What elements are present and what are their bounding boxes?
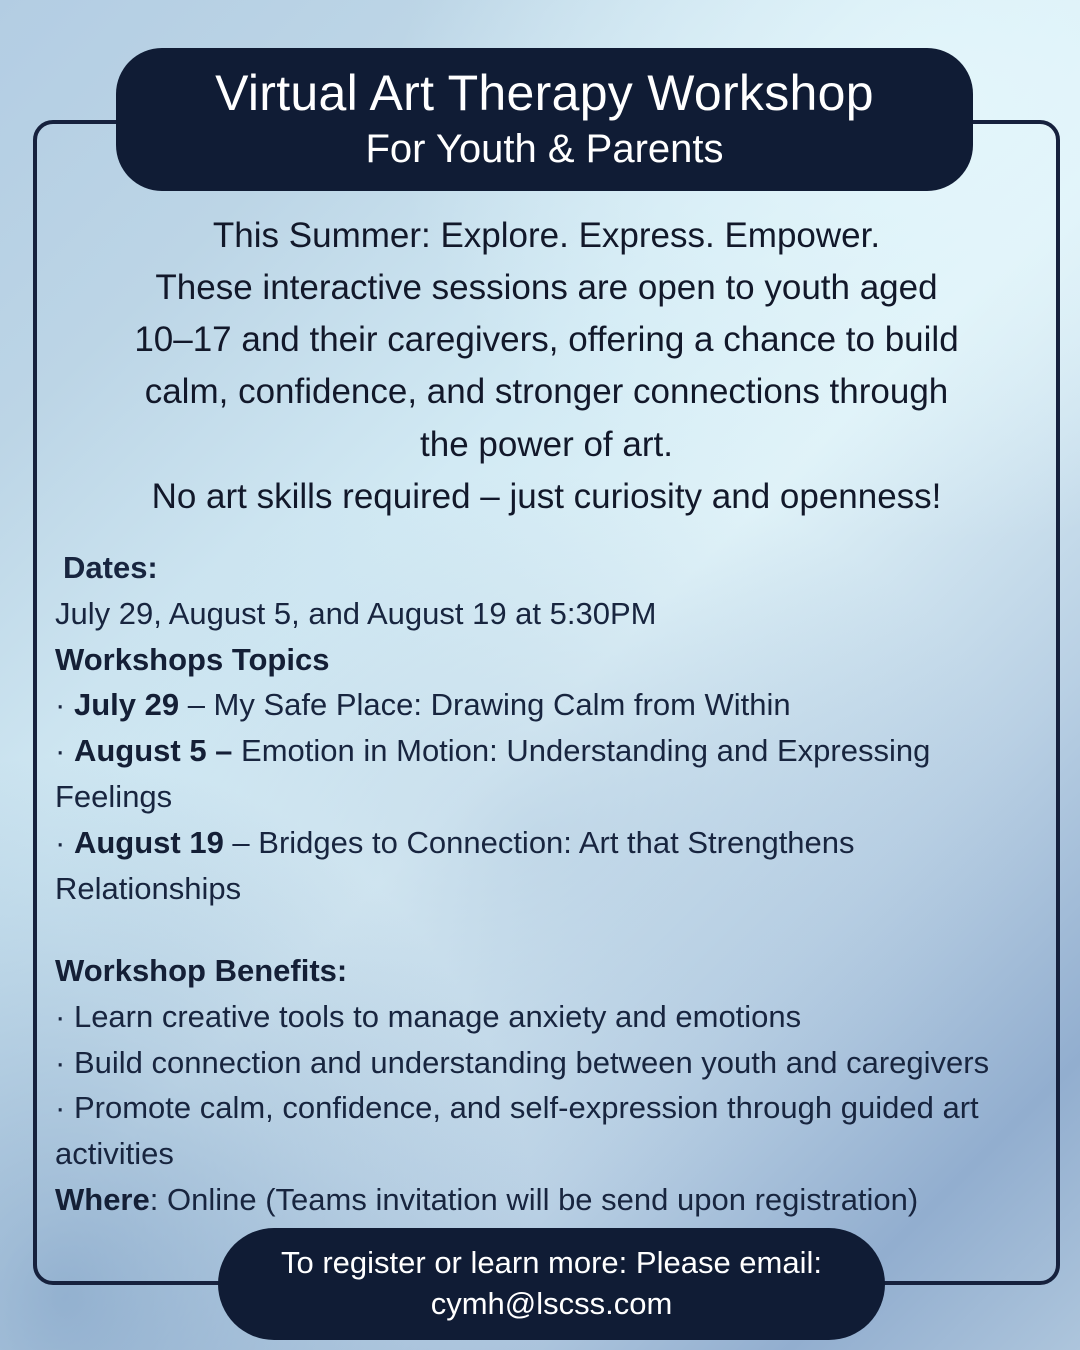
dates-label-row: Dates: [55,545,1040,591]
benefit-text-3: Promote calm, confidence, and self-expre… [55,1090,979,1171]
topic-item-2: · August 5 – Emotion in Motion: Understa… [55,728,1040,820]
benefit-bullet-2: · [55,1045,65,1080]
benefits-heading: Workshop Benefits: [55,948,1040,994]
topic-item-3: · August 19 – Bridges to Connection: Art… [55,820,1040,912]
topic-date-3: August 19 [74,825,224,860]
benefit-text-1: Learn creative tools to manage anxiety a… [74,999,801,1034]
topic-separator-3: – [224,825,258,860]
topic-bullet-3: · [55,825,65,860]
benefit-item-2: · Build connection and understanding bet… [55,1040,1040,1086]
benefits-heading-label: Workshop Benefits: [55,953,347,988]
topic-date-1: July 29 [74,687,179,722]
poster-content: This Summer: Explore. Express. Empower. … [33,196,1060,1223]
intro-paragraph: This Summer: Explore. Express. Empower. … [33,196,1060,523]
topic-text-1: My Safe Place: Drawing Calm from Within [214,687,791,722]
topic-bullet-1: · [55,687,65,722]
contact-instruction: To register or learn more: Please email: [281,1243,822,1284]
contact-email[interactable]: cymh@lscss.com [431,1284,673,1325]
section-spacer [55,912,1040,948]
benefit-bullet-1: · [55,999,65,1034]
benefit-item-3: · Promote calm, confidence, and self-exp… [55,1085,1040,1177]
where-label: Where [55,1182,150,1217]
dates-value-row: July 29, August 5, and August 19 at 5:30… [55,591,1040,637]
where-value: : Online (Teams invitation will be send … [150,1182,919,1217]
topic-bullet-2: · [55,733,65,768]
intro-line-4: calm, confidence, and stronger connectio… [51,366,1042,418]
page-title: Virtual Art Therapy Workshop [215,67,874,120]
title-banner: Virtual Art Therapy Workshop For Youth &… [116,48,973,191]
benefit-bullet-3: · [55,1090,65,1125]
intro-line-3: 10–17 and their caregivers, offering a c… [51,314,1042,366]
intro-line-1: This Summer: Explore. Express. Empower. [51,210,1042,262]
poster-canvas: Virtual Art Therapy Workshop For Youth &… [0,0,1080,1350]
topic-separator-2 [232,733,241,768]
where-row: Where: Online (Teams invitation will be … [55,1177,1040,1223]
topic-separator-1: – [179,687,213,722]
topic-item-1: · July 29 – My Safe Place: Drawing Calm … [55,682,1040,728]
intro-line-6: No art skills required – just curiosity … [51,471,1042,523]
details-block: Dates: July 29, August 5, and August 19 … [33,545,1060,1223]
intro-line-5: the power of art. [51,419,1042,471]
benefit-item-1: · Learn creative tools to manage anxiety… [55,994,1040,1040]
dates-label: Dates: [55,550,158,585]
page-subtitle: For Youth & Parents [365,126,723,172]
topic-date-2: August 5 – [74,733,232,768]
contact-banner: To register or learn more: Please email:… [218,1228,885,1340]
topics-heading-label: Workshops Topics [55,642,329,677]
topics-heading: Workshops Topics [55,637,1040,683]
benefit-text-2: Build connection and understanding betwe… [74,1045,989,1080]
intro-line-2: These interactive sessions are open to y… [51,262,1042,314]
